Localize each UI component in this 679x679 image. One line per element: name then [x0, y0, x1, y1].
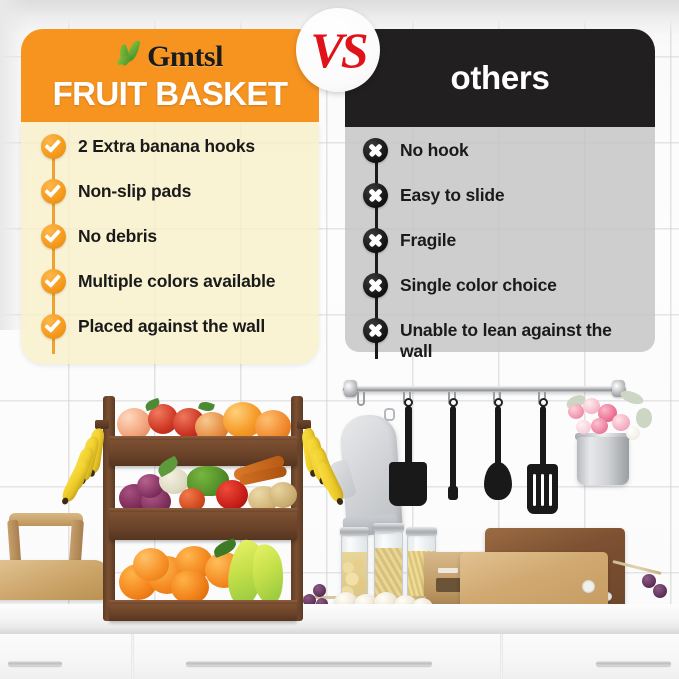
knife-slot-1 — [438, 568, 458, 573]
others-comparison-card: others No hook Easy to slide Fragile — [345, 29, 655, 352]
list-item: No hook — [363, 138, 655, 163]
flower-bloom-6 — [576, 420, 591, 434]
check-glyph — [44, 136, 61, 153]
spoon-handle — [495, 406, 501, 468]
check-circle-icon — [41, 224, 66, 249]
cabinet-drawers — [0, 634, 679, 679]
cross-glyph — [368, 233, 383, 248]
list-item-label: No hook — [388, 138, 469, 161]
list-item-label: Placed against the wall — [66, 314, 265, 337]
flower-bloom-5 — [591, 418, 608, 434]
product-card-header: Gmtsl FRUIT BASKET — [21, 29, 319, 122]
list-item: 2 Extra banana hooks — [41, 134, 319, 159]
cabinet-seam-1 — [131, 634, 134, 679]
turner-slot-2 — [541, 474, 544, 506]
grape-1 — [313, 584, 326, 597]
tier2-front-panel — [109, 512, 297, 540]
cross-circle-icon — [363, 138, 388, 163]
tier3-front-panel — [109, 604, 297, 621]
drawer-handle-2 — [186, 661, 432, 666]
tier2-potato-2 — [269, 482, 297, 508]
check-glyph — [44, 226, 61, 243]
list-item-label: Non-slip pads — [66, 179, 191, 202]
grape-5 — [653, 584, 667, 598]
list-item: Placed against the wall — [41, 314, 319, 339]
tier3-orange-5 — [171, 570, 209, 604]
cutting-board-light-hole — [582, 580, 595, 593]
list-item: Non-slip pads — [41, 179, 319, 204]
narrow-utensil-tip — [448, 486, 458, 500]
list-item: Multiple colors available — [41, 269, 319, 294]
stainless-hanging-rail — [343, 386, 626, 392]
brand-logo: Gmtsl — [21, 37, 319, 77]
product-card-title: FRUIT BASKET — [21, 75, 319, 113]
list-item-label: 2 Extra banana hooks — [66, 134, 255, 157]
product-card-body: 2 Extra banana hooks Non-slip pads No de… — [21, 122, 319, 364]
check-circle-icon — [41, 269, 66, 294]
list-item: Easy to slide — [363, 183, 655, 208]
list-item-label: Single color choice — [388, 273, 557, 296]
tier3-orange-3 — [133, 548, 169, 581]
cutting-board-left — [0, 560, 110, 600]
cross-glyph — [368, 278, 383, 293]
others-card-title: others — [345, 29, 655, 127]
screenshot-canvas: Gmtsl FRUIT BASKET 2 Extra banana hooks … — [0, 0, 679, 679]
cabinet-seam-2 — [500, 634, 503, 679]
others-card-body: No hook Easy to slide Fragile Single col… — [345, 127, 655, 352]
narrow-utensil-handle — [450, 406, 456, 490]
check-glyph — [44, 316, 61, 333]
leaf-logo-icon — [117, 40, 151, 74]
cross-circle-icon — [363, 318, 388, 343]
turner-slot-3 — [549, 474, 552, 506]
vs-badge-label: VS — [310, 25, 365, 75]
check-circle-icon — [41, 314, 66, 339]
list-item: Single color choice — [363, 273, 655, 298]
flower-bloom-1 — [568, 404, 584, 419]
list-item: Unable to lean against the wall — [363, 318, 655, 361]
cross-glyph — [368, 143, 383, 158]
spatula-handle — [405, 406, 412, 466]
list-item: No debris — [41, 224, 319, 249]
spatula-head — [389, 462, 427, 506]
turner-handle — [540, 406, 546, 468]
cross-glyph — [368, 188, 383, 203]
leaf-3 — [117, 55, 134, 65]
spoon-head — [484, 462, 512, 500]
drawer-handle-1 — [8, 661, 62, 666]
brand-name: Gmtsl — [147, 40, 223, 74]
drawer-handle-3 — [596, 661, 671, 666]
list-item-label: No debris — [66, 224, 157, 247]
list-item: Fragile — [363, 228, 655, 253]
flower-pot — [577, 437, 629, 485]
check-glyph — [44, 181, 61, 198]
rail-hook-1 — [357, 392, 365, 406]
list-item-label: Easy to slide — [388, 183, 504, 206]
cross-circle-icon — [363, 183, 388, 208]
cross-circle-icon — [363, 273, 388, 298]
cross-glyph — [368, 323, 383, 338]
list-item-label: Fragile — [388, 228, 456, 251]
vs-badge-icon: VS — [296, 8, 380, 92]
flower-foliage-3 — [636, 408, 652, 428]
list-item-label: Multiple colors available — [66, 269, 275, 292]
rail-mount-left — [344, 380, 357, 397]
pros-list: 2 Extra banana hooks Non-slip pads No de… — [21, 122, 319, 339]
list-item-label: Unable to lean against the wall — [388, 318, 638, 361]
check-circle-icon — [41, 179, 66, 204]
three-tier-fruit-basket — [103, 396, 303, 621]
check-glyph — [44, 271, 61, 288]
check-circle-icon — [41, 134, 66, 159]
flower-bloom-7 — [626, 426, 640, 440]
cross-circle-icon — [363, 228, 388, 253]
cons-list: No hook Easy to slide Fragile Single col… — [345, 127, 655, 361]
product-comparison-card: Gmtsl FRUIT BASKET 2 Extra banana hooks … — [21, 29, 319, 364]
turner-slot-1 — [533, 474, 536, 506]
